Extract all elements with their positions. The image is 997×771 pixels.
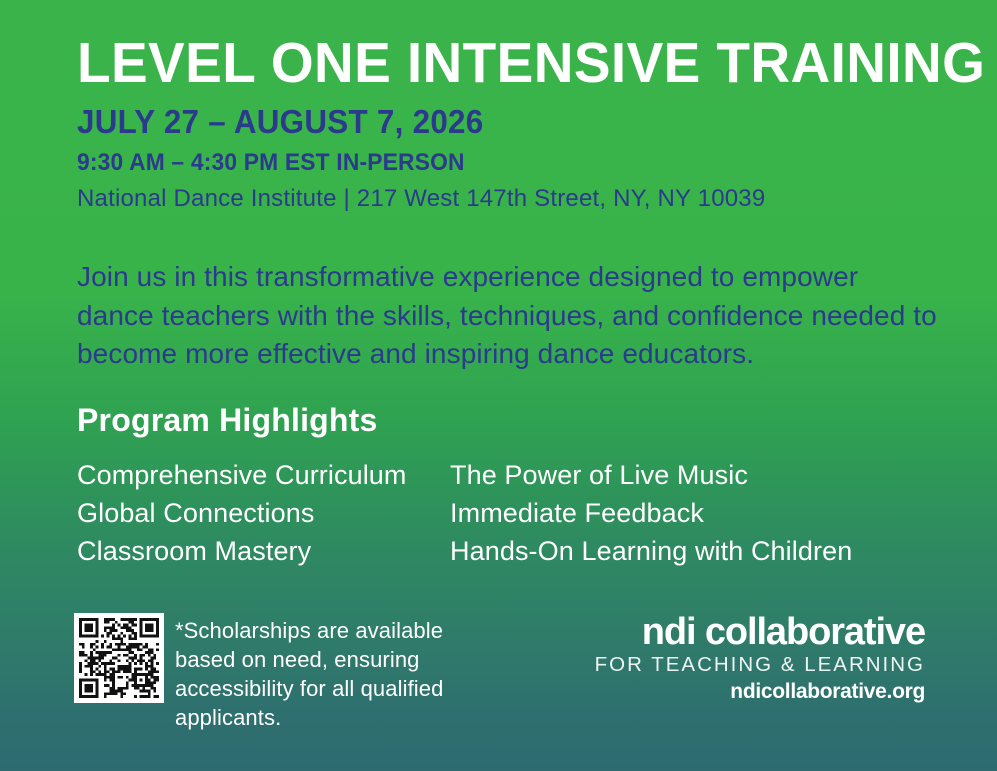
logo-website-url[interactable]: ndicollaborative.org — [595, 679, 925, 705]
scholarship-note: *Scholarships are available based on nee… — [175, 616, 505, 732]
event-dates: JULY 27 – AUGUST 7, 2026 — [77, 104, 894, 140]
logo-tagline: FOR TEACHING & LEARNING — [595, 653, 925, 677]
qr-code[interactable] — [74, 613, 164, 703]
brand-logo: ndi collaborative FOR TEACHING & LEARNIN… — [595, 612, 925, 705]
event-venue: National Dance Institute | 217 West 147t… — [77, 186, 937, 212]
promo-poster: LEVEL ONE INTENSIVE TRAINING JULY 27 – A… — [0, 0, 997, 771]
highlight-item: Immediate Feedback — [450, 494, 947, 532]
logo-wordmark: ndi collaborative — [595, 612, 925, 652]
highlight-item: Classroom Mastery — [77, 532, 450, 570]
qr-code-image — [79, 618, 159, 698]
intro-paragraph: Join us in this transformative experienc… — [77, 258, 939, 374]
highlight-item: Global Connections — [77, 494, 450, 532]
page-title: LEVEL ONE INTENSIVE TRAINING — [77, 34, 907, 93]
event-time: 9:30 AM – 4:30 PM EST IN-PERSON — [77, 150, 894, 176]
program-highlights-heading: Program Highlights — [77, 403, 378, 438]
highlight-item: The Power of Live Music — [450, 456, 947, 494]
header-block: LEVEL ONE INTENSIVE TRAINING JULY 27 – A… — [77, 34, 937, 212]
highlight-item: Hands-On Learning with Children — [450, 532, 947, 570]
highlight-item: Comprehensive Curriculum — [77, 456, 450, 494]
program-highlights-list: Comprehensive Curriculum The Power of Li… — [77, 456, 947, 570]
